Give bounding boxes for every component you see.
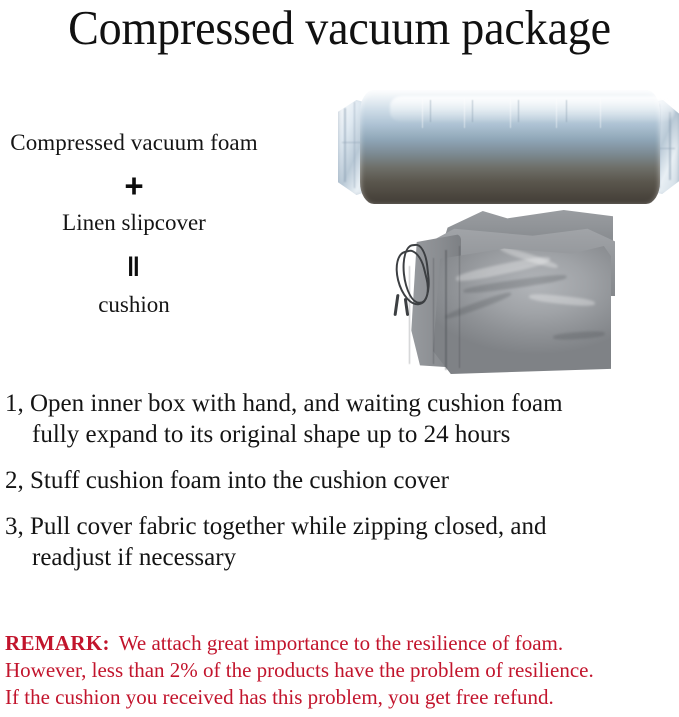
roll-highlight (390, 96, 674, 122)
step-2-line-1: 2, Stuff cushion foam into the cushion c… (0, 465, 679, 496)
cushion-formula: Compressed vacuum foam + Linen slipcover… (0, 128, 268, 320)
step-3-line-2: readjust if necessary (0, 542, 679, 573)
remark-line-2: However, less than 2% of the products ha… (5, 657, 675, 684)
step-gap-2 (0, 496, 679, 511)
step-3-line-1: 3, Pull cover fabric together while zipp… (0, 511, 679, 542)
remark-block: REMARK:We attach great importance to the… (5, 630, 675, 711)
vacuum-sealed-foam-cylinder (360, 90, 660, 204)
plus-operator-icon: + (0, 164, 268, 208)
linen-slipcover-photo (385, 206, 625, 380)
page-title: Compressed vacuum package (20, 0, 658, 56)
remark-label: REMARK: (5, 631, 110, 655)
slipcover-tie-cord-3 (393, 294, 399, 316)
compressed-vacuum-foam-roll-photo (338, 88, 679, 206)
instruction-steps: 1, Open inner box with hand, and waiting… (0, 388, 679, 573)
step-1-line-2: fully expand to its original shape up to… (0, 419, 679, 450)
step-1-line-1: 1, Open inner box with hand, and waiting… (0, 388, 679, 419)
remark-line-3: If the cushion you received has this pro… (5, 684, 675, 711)
formula-component-slipcover: Linen slipcover (0, 208, 268, 238)
remark-line-1: REMARK:We attach great importance to the… (5, 630, 675, 657)
remark-text-1: We attach great importance to the resili… (119, 631, 563, 655)
equals-operator-icon: ‖ (0, 244, 268, 290)
step-gap-1 (0, 450, 679, 465)
product-instruction-image: Compressed vacuum package Compressed vac… (0, 0, 679, 717)
formula-component-foam: Compressed vacuum foam (0, 128, 268, 158)
formula-result-cushion: cushion (0, 290, 268, 320)
